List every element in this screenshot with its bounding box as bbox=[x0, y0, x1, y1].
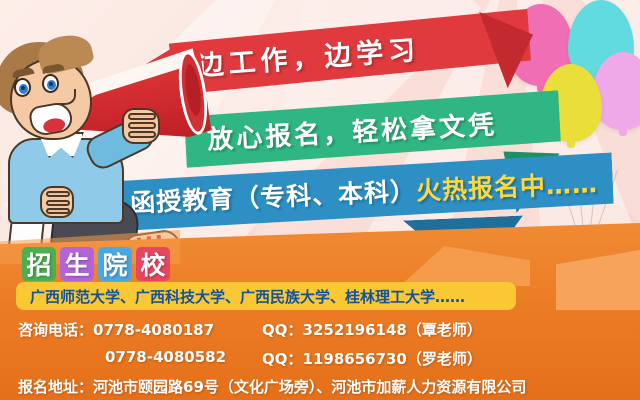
badge-tile-4: 校 bbox=[136, 247, 170, 281]
phone-value-1: 0778-4080187 bbox=[93, 321, 214, 339]
phone-value-2: 0778-4080582 bbox=[105, 348, 226, 366]
badge-tile-1-char: 招 bbox=[26, 246, 51, 282]
badge-tile-3: 院 bbox=[98, 247, 132, 281]
boy-left-hand bbox=[40, 186, 74, 218]
promo-poster: 边工作，边学习 放心报名，轻松拿文凭 函授教育（专科、本科） 火热报名中…… bbox=[0, 0, 640, 400]
boy-eye-right bbox=[42, 74, 59, 93]
banner-blue-hot-text: 火热报名中…… bbox=[415, 164, 598, 208]
address-line: 报名地址：河池市颐园路69号（文化广场旁）、河池市加薪人力资源有限公司 bbox=[18, 376, 526, 397]
enrollment-schools-badge: 招 生 院 校 bbox=[22, 247, 170, 281]
badge-tile-4-char: 校 bbox=[140, 246, 165, 282]
cartoon-boy-with-megaphone bbox=[0, 34, 209, 249]
phone-label: 咨询电话： bbox=[18, 321, 93, 339]
qq-value-1: QQ：3252196148（覃老师） bbox=[262, 321, 482, 339]
schools-list-text: 广西师范大学、广西科技大学、广西民族大学、桂林理工大学…… bbox=[30, 286, 465, 307]
address-value: 河池市颐园路69号（文化广场旁）、河池市加薪人力资源有限公司 bbox=[93, 378, 526, 396]
phone-line-1: 咨询电话：0778-4080187 bbox=[18, 319, 214, 340]
boy-tongue bbox=[42, 117, 66, 135]
badge-tile-3-char: 院 bbox=[102, 246, 127, 282]
qq-line-1: QQ：3252196148（覃老师） bbox=[262, 319, 482, 340]
badge-tile-2: 生 bbox=[60, 247, 94, 281]
boy-eye-left bbox=[14, 78, 31, 97]
qq-line-2: QQ：1198656730（罗老师） bbox=[262, 348, 482, 369]
badge-tile-1: 招 bbox=[22, 247, 56, 281]
boy-right-hand bbox=[122, 108, 160, 144]
address-label: 报名地址： bbox=[18, 378, 93, 396]
badge-tile-2-char: 生 bbox=[64, 246, 89, 282]
phone-line-2: 0778-4080582 bbox=[105, 348, 226, 366]
schools-pill: 广西师范大学、广西科技大学、广西民族大学、桂林理工大学…… bbox=[16, 282, 516, 310]
qq-value-2: QQ：1198656730（罗老师） bbox=[262, 350, 482, 368]
